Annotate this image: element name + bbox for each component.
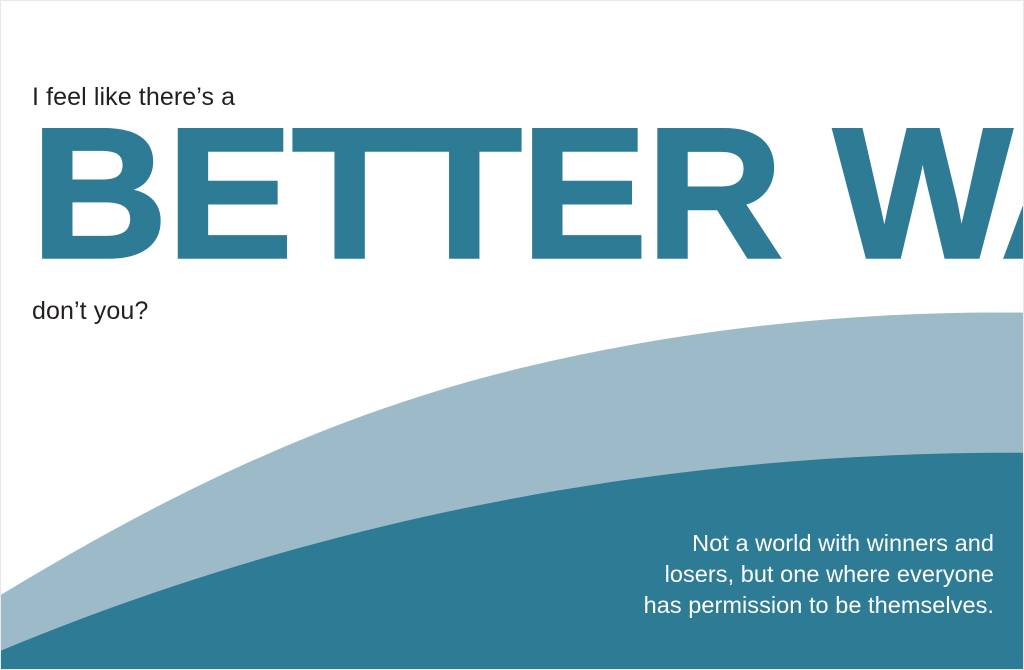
slide-canvas: I feel like there’s a BETTER WAY don’t y…: [0, 0, 1024, 670]
quote-line-1: Not a world with winners and: [574, 528, 994, 559]
quote-line-2: losers, but one where everyone: [574, 559, 994, 590]
headline-text: BETTER WAY: [31, 106, 1024, 279]
quote-line-3: has permission to be themselves.: [574, 590, 994, 621]
quote-block: Not a world with winners and losers, but…: [574, 528, 994, 621]
headline: BETTER WAY: [31, 113, 1024, 273]
subline-text: don’t you?: [32, 295, 148, 327]
